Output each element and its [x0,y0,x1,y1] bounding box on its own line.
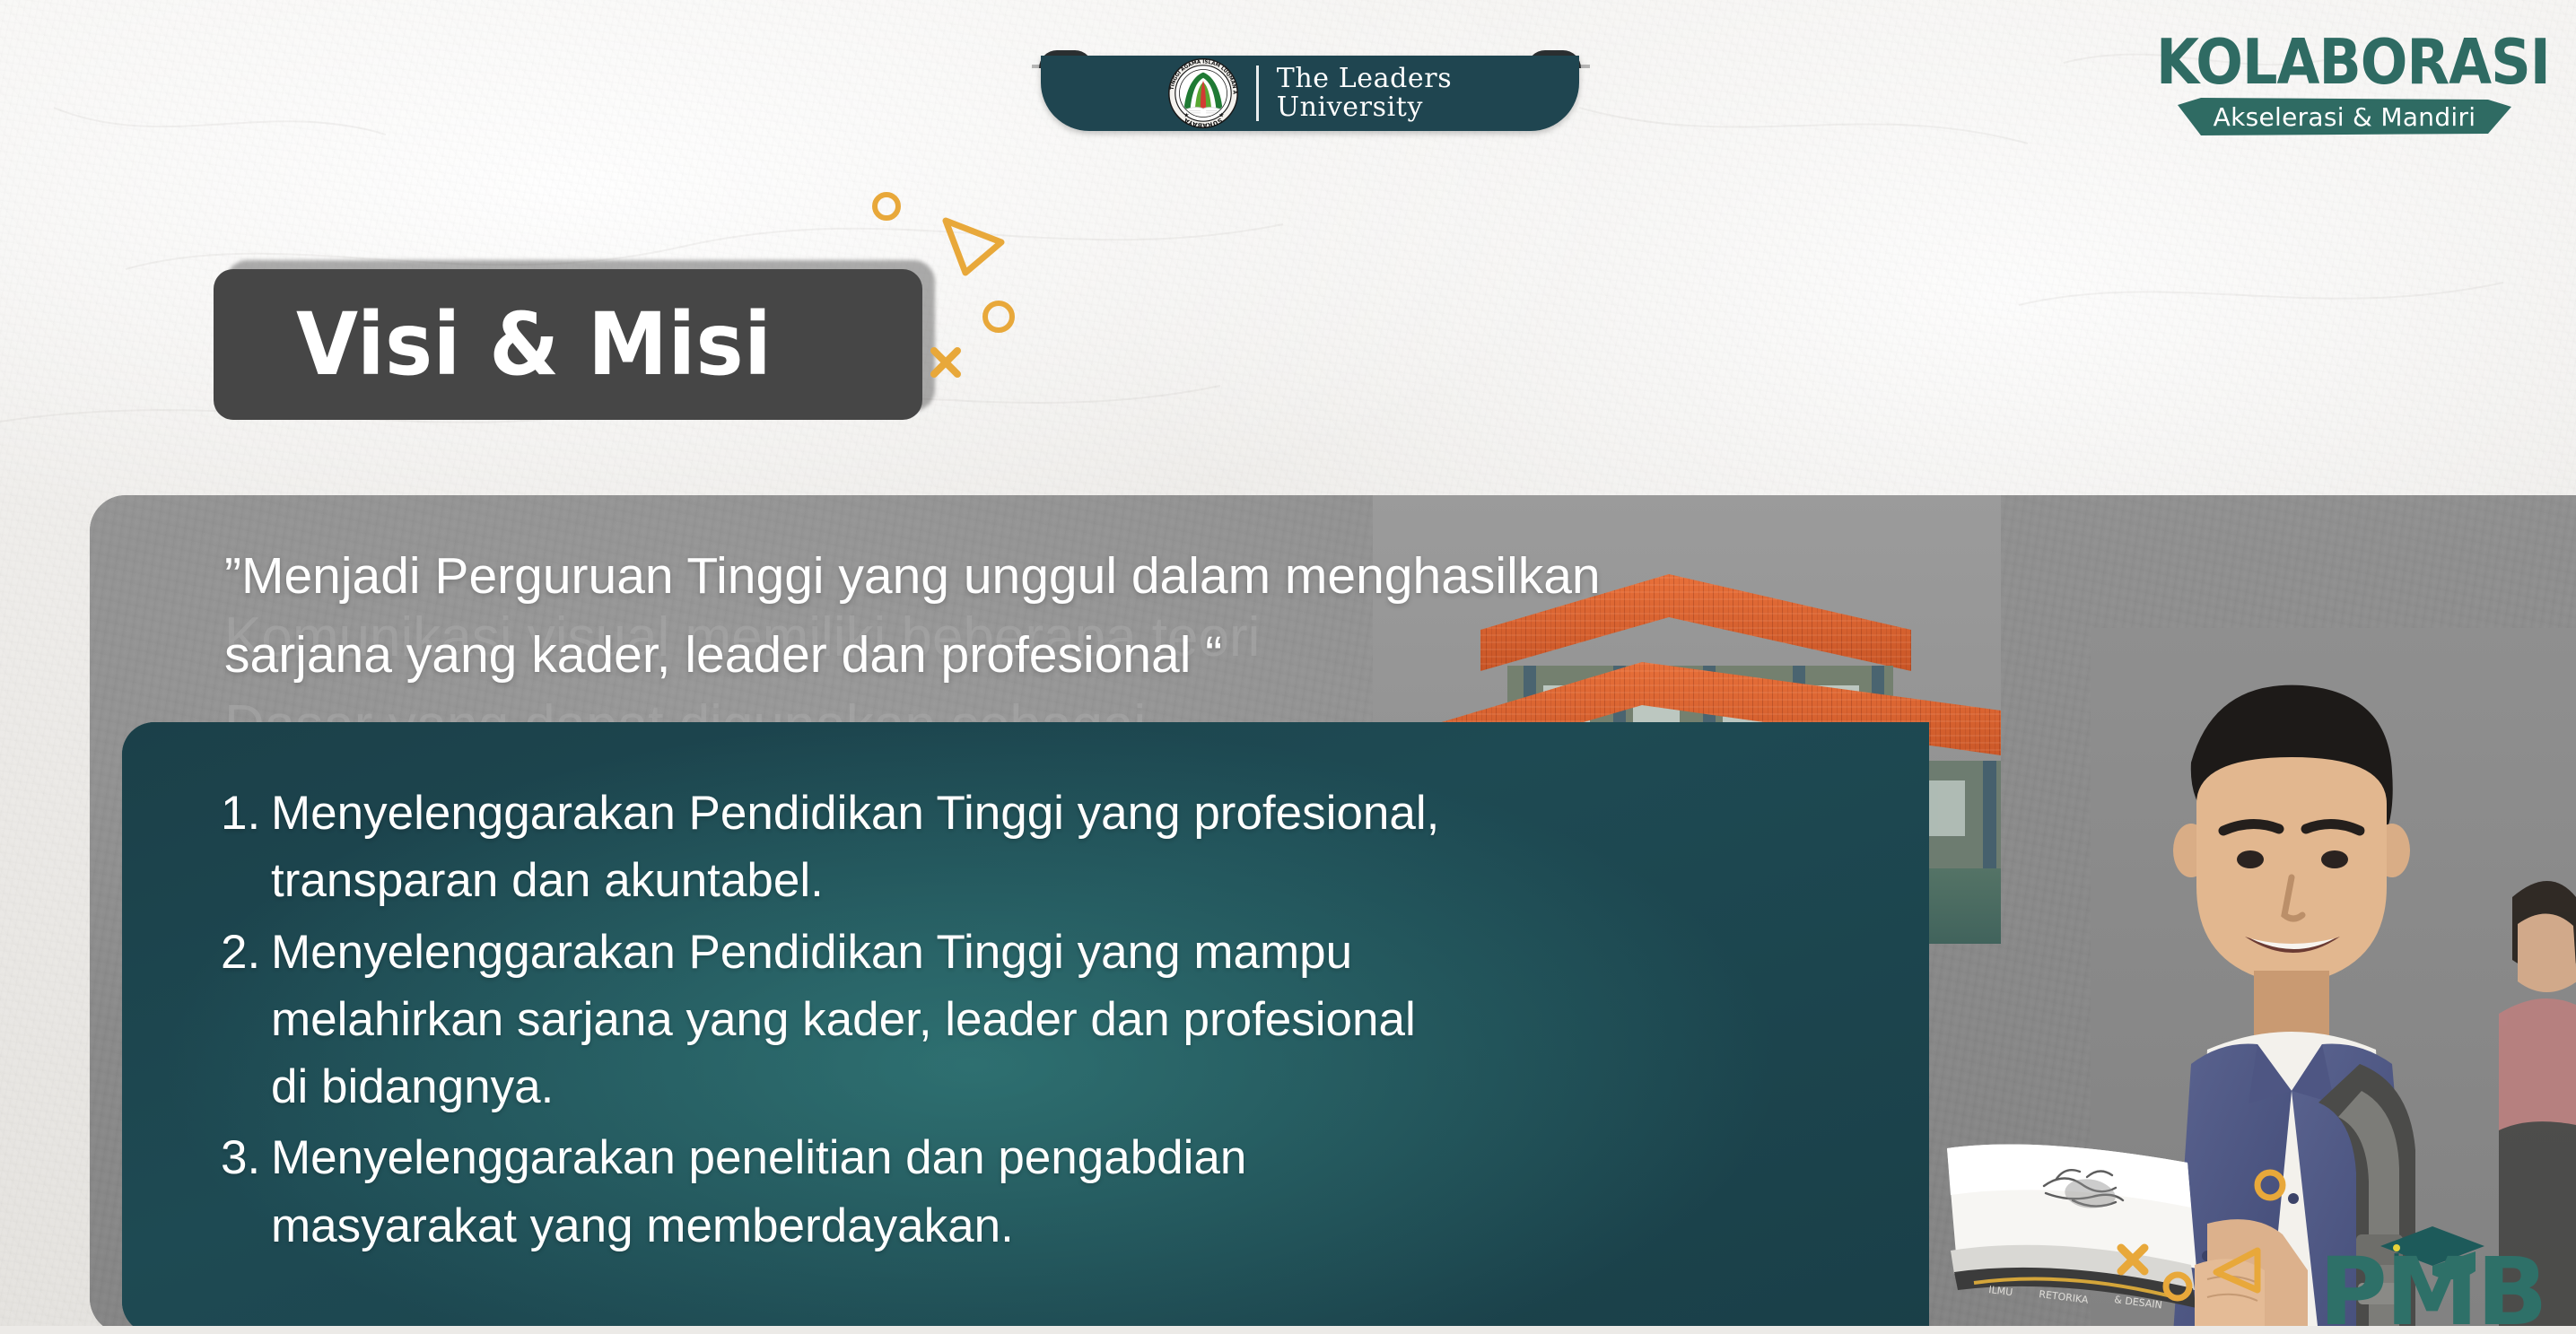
pmb-logo: PMB [2298,1208,2567,1334]
kolaborasi-ribbon: Akselerasi & Mandiri [2178,98,2511,137]
triangle-doodle-icon [2209,1245,2265,1297]
circle-doodle-icon [2158,1267,2197,1306]
kolaborasi-logo: KOLABORASI Akselerasi & Mandiri [2156,39,2533,137]
mission-item: 2. Menyelenggarakan Pendidikan Tinggi ya… [221,919,1848,1121]
svg-text:RETORIKA: RETORIKA [2039,1288,2090,1306]
banner-divider [1256,65,1259,121]
mission-number: 3. [221,1124,271,1260]
triangle-doodle-icon [939,215,1009,280]
vision-statement: ”Menjadi Perguruan Tinggi yang unggul da… [224,536,1750,695]
mission-item: 3. Menyelenggarakan penelitian dan penga… [221,1124,1848,1260]
bottom-edge-strip [0,1326,2576,1334]
circle-doodle-icon [978,296,1019,337]
page-title: Visi & Misi [296,294,772,395]
mission-list: 1. Menyelenggarakan Pendidikan Tinggi ya… [221,780,1848,1263]
cross-doodle-icon [2113,1240,2152,1279]
svg-text:ILMU: ILMU [1988,1284,2013,1298]
university-seal-icon: SEKOLAH TINGGI AGAMA ISLAM LUQMAN AL HAK… [1168,58,1238,128]
kolaborasi-tagline: Akselerasi & Mandiri [2178,98,2511,137]
header-banner: SEKOLAH TINGGI AGAMA ISLAM LUQMAN AL HAK… [1041,25,1579,131]
svg-text:★: ★ [1183,112,1189,119]
mission-number: 2. [221,919,271,1121]
kolaborasi-wordmark: KOLABORASI [2156,33,2533,92]
svg-text:★: ★ [1218,112,1224,119]
pmb-wordmark: PMB [2298,1237,2567,1334]
slide: SEKOLAH TINGGI AGAMA ISLAM LUQMAN AL HAK… [0,0,2576,1334]
page-title-pill: Visi & Misi [214,269,922,420]
mission-item: 1. Menyelenggarakan Pendidikan Tinggi ya… [221,780,1848,915]
university-name: The Leaders University [1277,65,1452,122]
mission-number: 1. [221,780,271,915]
mission-panel: 1. Menyelenggarakan Pendidikan Tinggi ya… [122,722,1929,1334]
cross-doodle-icon [926,343,965,382]
mission-text: Menyelenggarakan penelitian dan pengabdi… [271,1124,1246,1260]
circle-doodle-icon [2249,1164,2291,1206]
mission-text: Menyelenggarakan Pendidikan Tinggi yang … [271,780,1439,915]
banner-body: SEKOLAH TINGGI AGAMA ISLAM LUQMAN AL HAK… [1041,56,1579,131]
circle-doodle-icon [869,188,904,224]
mission-text: Menyelenggarakan Pendidikan Tinggi yang … [271,919,1416,1121]
